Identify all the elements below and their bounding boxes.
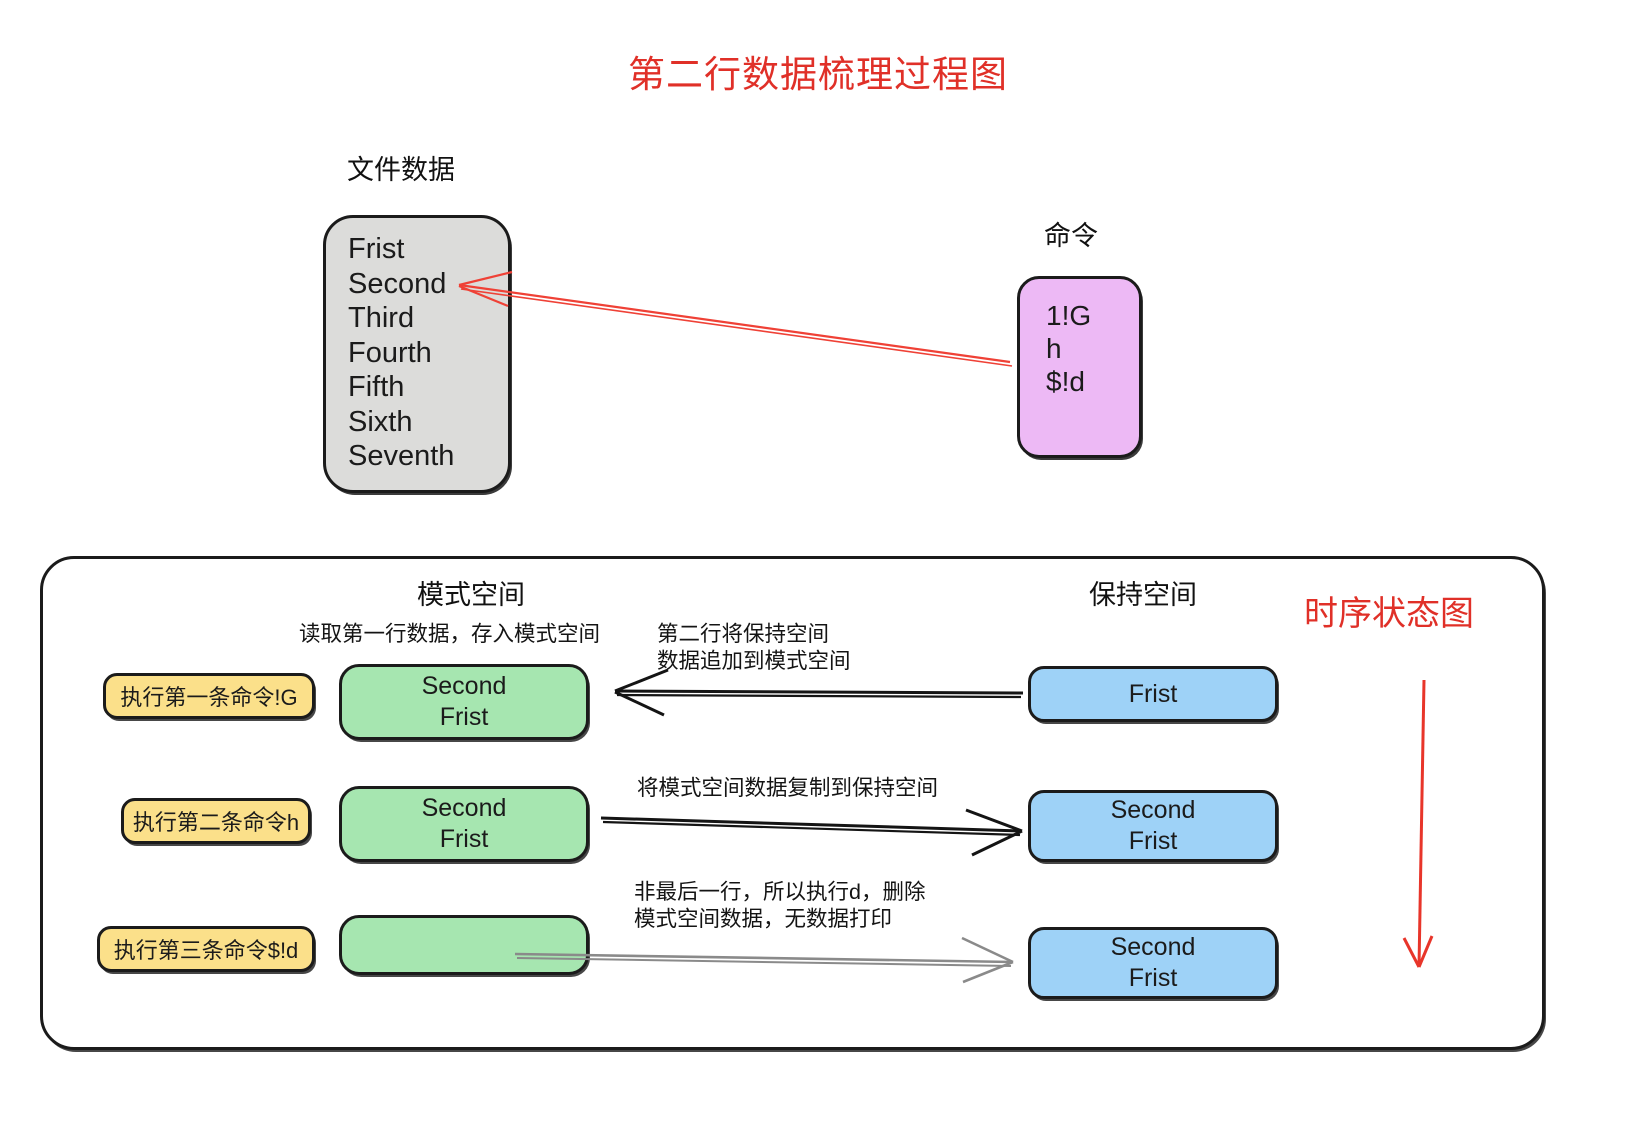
file-line-6: Sixth bbox=[348, 405, 508, 440]
file-line-3: Third bbox=[348, 301, 508, 336]
row-3-hold-space-box: Second Frist bbox=[1028, 927, 1278, 999]
file-data-caption: 文件数据 bbox=[347, 148, 455, 187]
row-2-hold-line-2: Frist bbox=[1129, 826, 1178, 857]
diagram-canvas: 第二行数据梳理过程图 文件数据 Frist Second Third Fourt… bbox=[0, 0, 1636, 1146]
hold-space-header: 保持空间 bbox=[1089, 573, 1197, 612]
row-2-annotation-right: 将模式空间数据复制到保持空间 bbox=[637, 775, 938, 802]
row-1-hold-line-1: Frist bbox=[1129, 679, 1178, 710]
sequence-state-label: 时序状态图 bbox=[1304, 586, 1474, 635]
row-2-hold-space-box: Second Frist bbox=[1028, 790, 1278, 862]
command-box: 1!G h $!d bbox=[1017, 276, 1142, 458]
row-2-pattern-space-box: Second Frist bbox=[339, 786, 589, 862]
row-1-annotation-right: 第二行将保持空间 数据追加到模式空间 bbox=[657, 621, 851, 675]
row-1-step-label[interactable]: 执行第一条命令!G bbox=[103, 673, 315, 719]
row-3-pattern-space-box bbox=[339, 915, 589, 975]
command-to-file-arrow bbox=[459, 272, 1012, 366]
row-1-hold-space-box: Frist bbox=[1028, 666, 1278, 722]
file-line-1: Frist bbox=[348, 232, 508, 267]
row-3-step-label[interactable]: 执行第三条命令$!d bbox=[97, 926, 315, 972]
command-line-1: 1!G bbox=[1046, 299, 1139, 332]
command-line-2: h bbox=[1046, 332, 1139, 365]
row-1-pattern-space-box: Second Frist bbox=[339, 664, 589, 740]
command-caption: 命令 bbox=[1044, 214, 1098, 253]
command-line-3: $!d bbox=[1046, 365, 1139, 398]
row-1-annotation-left: 读取第一行数据，存入模式空间 bbox=[299, 621, 600, 648]
row-3-hold-line-2: Frist bbox=[1129, 963, 1178, 994]
file-line-4: Fourth bbox=[348, 336, 508, 371]
file-data-box: Frist Second Third Fourth Fifth Sixth Se… bbox=[323, 215, 511, 493]
file-line-7: Seventh bbox=[348, 439, 508, 474]
page-title: 第二行数据梳理过程图 bbox=[0, 44, 1636, 98]
file-line-2: Second bbox=[348, 267, 508, 302]
row-3-hold-line-1: Second bbox=[1111, 932, 1196, 963]
row-1-pattern-line-1: Second bbox=[422, 671, 507, 702]
row-2-pattern-line-1: Second bbox=[422, 793, 507, 824]
row-2-step-label[interactable]: 执行第二条命令h bbox=[121, 798, 311, 844]
row-2-pattern-line-2: Frist bbox=[440, 824, 489, 855]
row-1-pattern-line-2: Frist bbox=[440, 702, 489, 733]
pattern-space-header: 模式空间 bbox=[417, 573, 525, 612]
file-line-5: Fifth bbox=[348, 370, 508, 405]
row-2-hold-line-1: Second bbox=[1111, 795, 1196, 826]
row-3-annotation-right: 非最后一行，所以执行d，删除 模式空间数据，无数据打印 bbox=[634, 879, 925, 933]
